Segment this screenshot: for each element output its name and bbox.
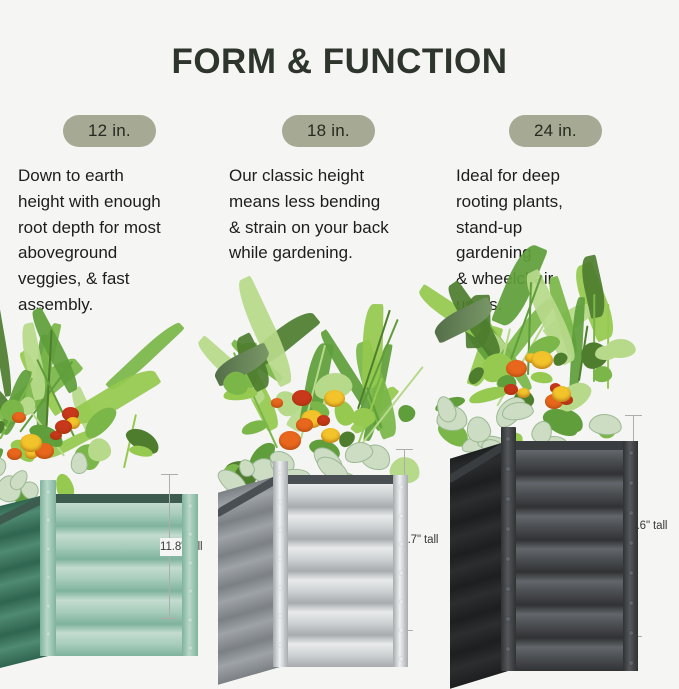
corner-post xyxy=(501,427,516,671)
leaf xyxy=(540,403,584,441)
ivy-leaf xyxy=(358,440,394,473)
leaf xyxy=(604,339,636,359)
flower-blossom xyxy=(545,394,564,409)
planter-front-panel xyxy=(508,441,638,671)
leaf xyxy=(350,408,375,427)
side-corrugation xyxy=(450,441,508,689)
rivet xyxy=(188,504,192,508)
palm-frond xyxy=(349,382,399,438)
ivy-leaf xyxy=(588,413,623,437)
ivy-leaf xyxy=(490,391,531,433)
leaf xyxy=(70,438,106,474)
rivet xyxy=(188,589,192,593)
corrugation-rib xyxy=(508,540,638,573)
plant-foliage-18in xyxy=(208,332,423,492)
rivet xyxy=(278,557,282,561)
plant-stem xyxy=(233,352,278,448)
ivy-leaf xyxy=(0,455,1,479)
corrugation-rib xyxy=(280,635,408,667)
leaf xyxy=(595,346,616,361)
palm-frond xyxy=(0,363,14,413)
plant-stem xyxy=(366,387,382,428)
rivet xyxy=(278,614,282,618)
leaf xyxy=(465,364,486,386)
rivet xyxy=(46,632,50,636)
leaf xyxy=(594,413,619,441)
planter-body-18in xyxy=(218,475,408,667)
leaf xyxy=(222,386,257,402)
leaf xyxy=(0,446,5,472)
plant-stem xyxy=(19,361,73,433)
ivy-leaf xyxy=(0,453,10,479)
rivet xyxy=(188,646,192,650)
palm-frond xyxy=(286,371,340,438)
palm-frond xyxy=(68,363,161,432)
corrugation-rib xyxy=(508,605,638,638)
leaf xyxy=(433,394,466,414)
plant-stem xyxy=(123,414,137,468)
flower-blossom xyxy=(279,431,301,449)
plant-stem xyxy=(45,330,53,436)
flower-blossom xyxy=(66,417,80,429)
flower-blossom xyxy=(560,395,573,405)
leaf xyxy=(336,428,358,450)
flower-blossom xyxy=(12,412,26,423)
rivet xyxy=(188,618,192,622)
leaf xyxy=(395,401,419,425)
leaf xyxy=(0,396,28,425)
palm-frond xyxy=(105,319,184,395)
planter-side-panel xyxy=(450,441,508,689)
rivet xyxy=(629,661,633,665)
plant-stem xyxy=(355,366,425,453)
leaf xyxy=(476,348,518,388)
rivet xyxy=(399,600,403,604)
feature-column-24in: 24 in. Ideal for deep rooting plants, st… xyxy=(444,115,679,335)
rivet xyxy=(629,541,633,545)
dimension-cap-top xyxy=(161,474,178,475)
corner-post xyxy=(40,480,56,656)
dimension-cap-bottom xyxy=(161,618,178,619)
rivet xyxy=(188,561,192,565)
leaf xyxy=(27,420,66,451)
palm-frond xyxy=(299,342,333,426)
ivy-leaf xyxy=(342,439,375,467)
leaf xyxy=(307,435,343,462)
leaf xyxy=(7,435,40,466)
flower-blossom xyxy=(35,443,54,458)
rivet xyxy=(399,571,403,575)
flower-blossom xyxy=(506,360,527,377)
plant-stem xyxy=(360,319,399,409)
corrugation-rib xyxy=(508,507,638,540)
leaf xyxy=(312,369,354,403)
plant-stem xyxy=(353,378,383,456)
flower-blossom xyxy=(331,394,341,402)
flower-blossom xyxy=(324,390,345,407)
leaf xyxy=(553,376,596,416)
flower-blossom xyxy=(301,410,324,428)
leaf xyxy=(233,380,249,399)
leaf xyxy=(128,443,154,458)
feature-column-18in: 18 in. Our classic height means less ben… xyxy=(222,115,444,335)
rivet xyxy=(629,511,633,515)
ivy-leaf xyxy=(70,451,87,474)
flower-blossom xyxy=(62,407,80,421)
flower-blossom xyxy=(271,398,282,407)
rivet xyxy=(46,604,50,608)
corrugation-rib xyxy=(508,638,638,671)
leaf xyxy=(270,386,304,421)
plant-stem xyxy=(0,353,7,429)
corrugation-rib xyxy=(280,539,408,571)
corrugation-rib xyxy=(280,603,408,635)
edge-post xyxy=(623,441,638,671)
leaf xyxy=(530,371,554,385)
palm-frond xyxy=(18,322,50,401)
rivet xyxy=(46,547,50,551)
flower-blossom xyxy=(517,388,529,398)
flower-blossom xyxy=(317,415,330,426)
feature-columns: 12 in. Down to earth height with enough … xyxy=(0,115,679,335)
rivet xyxy=(399,514,403,518)
palm-frond xyxy=(15,349,65,416)
leaf xyxy=(494,370,521,397)
palm-frond xyxy=(348,339,403,439)
palm-frond xyxy=(36,335,49,447)
corrugation-rib xyxy=(48,624,198,656)
plant-stem xyxy=(578,326,588,381)
edge-post xyxy=(182,494,198,656)
palm-frond xyxy=(41,425,98,463)
leaf xyxy=(550,350,569,368)
flower-blossom xyxy=(296,418,313,432)
ivy-leaf xyxy=(501,400,535,423)
flower-blossom xyxy=(550,383,562,393)
rivet xyxy=(399,542,403,546)
palm-frond xyxy=(477,318,535,392)
feature-description-24in: Ideal for deep rooting plants, stand-up … xyxy=(456,163,636,318)
rivet xyxy=(629,571,633,575)
planter-body-24in xyxy=(448,441,638,671)
leaf xyxy=(330,397,358,429)
flower-blossom xyxy=(321,428,340,443)
ivy-leaf xyxy=(436,406,468,432)
flower-blossom xyxy=(50,431,61,440)
height-badge-18in: 18 in. xyxy=(282,115,375,147)
flower-blossom xyxy=(552,386,571,401)
dimension-cap-top xyxy=(625,415,642,416)
feature-description-18in: Our classic height means less bending & … xyxy=(229,163,425,266)
rivet xyxy=(629,601,633,605)
flower-blossom xyxy=(504,384,518,395)
rivet xyxy=(278,643,282,647)
palm-frond xyxy=(466,323,503,388)
rivet xyxy=(399,485,403,489)
height-badge-24in: 24 in. xyxy=(509,115,602,147)
edge-post xyxy=(393,475,408,667)
leaf xyxy=(308,398,332,419)
rivet xyxy=(506,557,510,561)
feature-description-12in: Down to earth height with enough root de… xyxy=(18,163,214,318)
palm-frond xyxy=(363,342,393,441)
flower-blossom xyxy=(20,434,42,452)
plant-stem xyxy=(26,405,65,456)
leaf xyxy=(549,404,588,436)
leaf xyxy=(576,337,613,374)
flower-blossom xyxy=(535,358,545,366)
leaf xyxy=(79,402,120,443)
feature-column-12in: 12 in. Down to earth height with enough … xyxy=(0,115,222,335)
rivet xyxy=(506,497,510,501)
front-corrugation xyxy=(508,441,638,671)
rivet xyxy=(629,451,633,455)
rivet xyxy=(506,467,510,471)
rivet xyxy=(278,528,282,532)
planter-top-rim xyxy=(508,441,638,450)
rivet xyxy=(506,587,510,591)
ivy-leaf xyxy=(7,467,32,494)
leaf xyxy=(468,383,510,406)
palm-frond xyxy=(67,386,102,440)
product-image-18in xyxy=(218,347,408,667)
planter-side-panel xyxy=(218,475,280,685)
leaf xyxy=(221,369,252,399)
palm-frond xyxy=(233,358,284,432)
flower-blossom xyxy=(7,448,22,460)
palm-frond xyxy=(0,350,83,439)
leaf xyxy=(0,417,8,442)
palm-frond xyxy=(0,368,32,437)
rivet xyxy=(278,471,282,475)
plant-stem xyxy=(0,378,33,440)
rivet xyxy=(399,628,403,632)
rivet xyxy=(278,586,282,590)
rivet xyxy=(46,575,50,579)
plant-foliage-12in xyxy=(0,356,168,506)
rivet xyxy=(506,437,510,441)
rivet xyxy=(629,631,633,635)
plant-stem xyxy=(496,328,511,385)
broad-leaf xyxy=(210,342,272,387)
flower-blossom xyxy=(55,420,72,434)
dimension-cap-top xyxy=(396,449,413,450)
ivy-leaf xyxy=(434,393,460,424)
rivet xyxy=(46,518,50,522)
flower-blossom xyxy=(531,351,553,369)
product-scene: 11.8" tall 17.7" tall 23.6" tall xyxy=(0,330,679,679)
rivet xyxy=(46,490,50,494)
rivet xyxy=(188,532,192,536)
palm-frond xyxy=(317,329,389,432)
product-image-24in xyxy=(448,331,638,671)
flower-blossom xyxy=(292,390,312,406)
palm-frond xyxy=(231,333,275,393)
rivet xyxy=(399,657,403,661)
leaf xyxy=(592,365,613,383)
palm-frond xyxy=(30,322,61,407)
leaf xyxy=(239,418,268,438)
leaf xyxy=(524,331,563,363)
flower-blossom xyxy=(25,448,38,459)
rivet xyxy=(506,527,510,531)
plant-stem xyxy=(496,321,547,407)
leaf xyxy=(17,395,38,417)
plant-stem xyxy=(36,359,75,437)
front-corrugation xyxy=(280,475,408,667)
height-badge-12in: 12 in. xyxy=(63,115,156,147)
leaf xyxy=(85,436,112,463)
palm-frond xyxy=(229,339,285,383)
corner-post xyxy=(273,461,288,667)
corrugation-rib xyxy=(508,572,638,605)
palm-frond xyxy=(236,343,259,391)
palm-frond xyxy=(193,336,270,406)
corrugation-rib xyxy=(508,474,638,507)
page-title: FORM & FUNCTION xyxy=(0,44,679,79)
planter-top-rim xyxy=(280,475,408,484)
corrugation-rib xyxy=(280,507,408,539)
rivet xyxy=(506,647,510,651)
rivet xyxy=(278,500,282,504)
plant-stem xyxy=(300,345,326,439)
planter-front-panel xyxy=(280,475,408,667)
flower-blossom xyxy=(525,353,537,363)
rivet xyxy=(506,617,510,621)
infographic-canvas: FORM & FUNCTION 12 in. Down to earth hei… xyxy=(0,0,679,679)
leaf xyxy=(510,387,536,412)
rivet xyxy=(629,481,633,485)
leaf xyxy=(122,423,163,458)
corrugation-rib xyxy=(280,571,408,603)
